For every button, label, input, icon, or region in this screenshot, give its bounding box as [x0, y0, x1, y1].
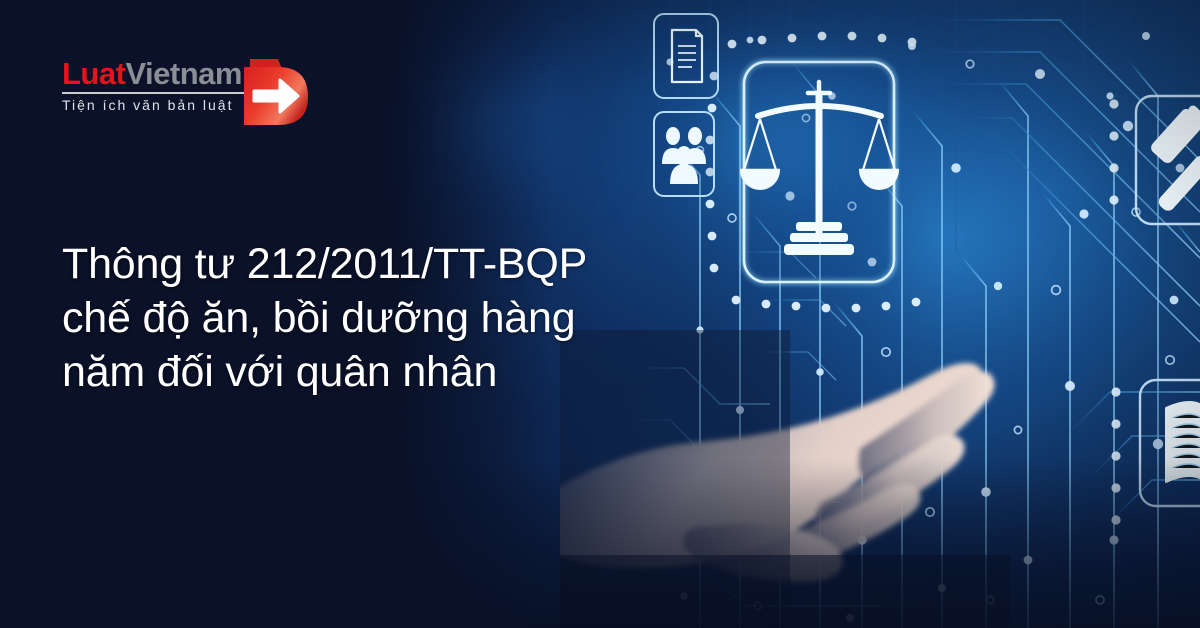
page-title-line-1: Thông tư 212/2011/TT-BQP	[62, 238, 702, 292]
logo-divider	[62, 92, 244, 94]
page-title: Thông tư 212/2011/TT-BQP chế độ ăn, bồi …	[62, 238, 702, 399]
luatvietnam-logo[interactable]: LuatVietnam Tiện ích văn bản luật	[62, 58, 312, 138]
banner-canvas: LuatVietnam Tiện ích văn bản luật	[0, 0, 1200, 628]
page-title-line-2: chế độ ăn, bồi dưỡng hàng	[62, 292, 702, 346]
logo-word-luat: Luat	[62, 56, 125, 91]
page-title-line-3: năm đối với quân nhân	[62, 346, 702, 400]
folder-arrow-icon	[234, 53, 316, 131]
logo-word-vietnam: Vietnam	[125, 56, 242, 91]
